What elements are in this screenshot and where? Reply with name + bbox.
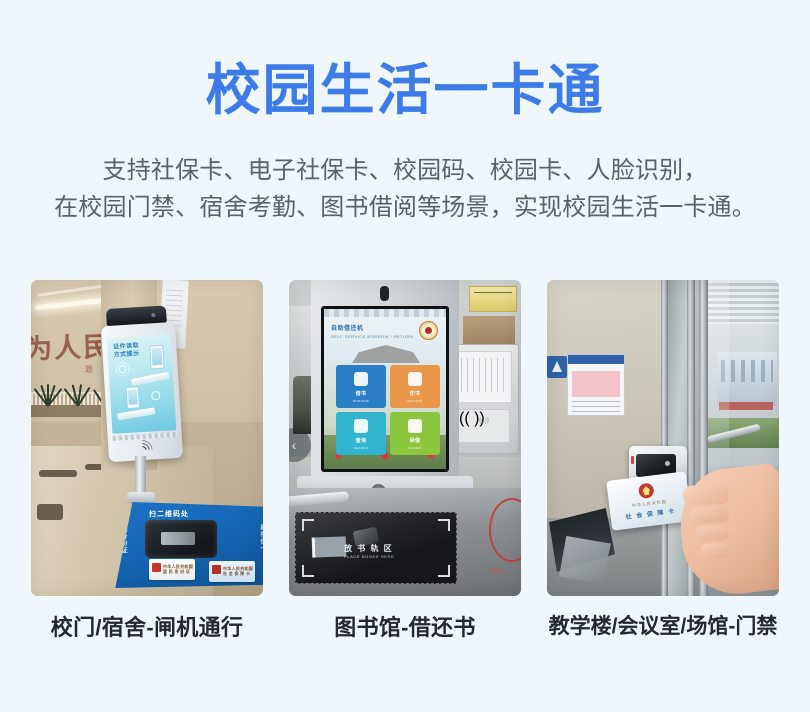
reader-led-icon: [631, 456, 634, 464]
desk-panel: [559, 536, 611, 584]
return-box-icon: [408, 372, 422, 386]
card-caption-gate: 校门/宿舍-闸机通行: [31, 610, 263, 642]
library-logo-badge: [419, 321, 438, 340]
kiosk-tile-borrow[interactable]: 借书 BORROW: [336, 365, 386, 408]
finger-index: [688, 506, 729, 525]
kiosk-bezel: 自助借还机 SELF-SERVICE BORROW / RETURN: [321, 306, 449, 472]
self-service-kiosk[interactable]: 自助借还机 SELF-SERVICE BORROW / RETURN: [311, 280, 459, 486]
card-caption-access-control: 教学楼/会议室/场馆-门禁: [547, 610, 779, 640]
subtitle-line-2: 在校园门禁、宿舍考勤、图书借阅等场景，实现校园生活一卡通。: [0, 189, 810, 226]
finger-middle: [695, 525, 730, 541]
id-card-graphic: 中华人民共和国 居 民 身 份 证: [149, 559, 195, 580]
terminal-screen-text: 证件读取 方式提示: [113, 342, 140, 360]
card-illustration-2: [117, 407, 156, 420]
terminal-screen[interactable]: 证件读取 方式提示: [107, 334, 177, 434]
card-caption-library: 图书馆-借还书: [289, 610, 521, 642]
nfc-wave-2: [115, 362, 130, 377]
scenario-card-row: 为人民服务 题: [31, 280, 779, 642]
national-emblem-icon: [638, 482, 655, 499]
wall-reader-panel[interactable]: (( )): [449, 344, 519, 454]
search-icon: [354, 419, 368, 433]
social-security-card-graphic: 中华人民共和国 社 会 保 障 卡: [209, 561, 255, 582]
kiosk-screen[interactable]: 自助借还机 SELF-SERVICE BORROW / RETURN: [324, 309, 446, 469]
wall-poster: [567, 354, 625, 416]
phone-illustration-2: [126, 386, 140, 409]
phone-illustration-1: [149, 345, 164, 370]
nfc-wave-3: [151, 391, 161, 401]
plant-2: [65, 376, 91, 406]
camera-module: [106, 305, 167, 326]
kiosk-tile-grid: 借书 BORROW 还书 RETURN: [336, 365, 440, 455]
kiosk-tile-search[interactable]: 查询 SEARCH: [336, 412, 386, 455]
wall-notice-sign: [469, 286, 517, 312]
book-tray-area: 放 书 轨 区 PLACE BOOKS HERE: [289, 488, 521, 596]
kiosk-camera-icon: [380, 286, 389, 301]
wall-calligraphy-signature: 题: [85, 364, 94, 375]
scenario-card-gate[interactable]: 为人民服务 题: [31, 280, 263, 642]
card-illustration-1: [131, 372, 170, 386]
promo-page: 校园生活一卡通 支持社保卡、电子社保卡、校园码、校园卡、人脸识别， 在校园门禁、…: [0, 0, 810, 712]
screen-status-bar: [324, 309, 446, 317]
photo-gate-turnstile: 为人民服务 题: [31, 280, 263, 596]
social-security-card[interactable]: 中华人民共和国 社 会 保 障 卡: [606, 471, 691, 530]
book-icon: [354, 372, 368, 386]
book-stack: [312, 536, 347, 557]
terminal-pole-base: [127, 492, 155, 504]
kiosk-tile-return[interactable]: 还书 RETURN: [390, 365, 440, 408]
directional-sign: [547, 356, 567, 378]
scenario-card-library[interactable]: ‹ (( )) 自助借还机 SELF-SERVICE BORROW / RETU…: [289, 280, 521, 642]
nfc-icon: [136, 437, 163, 455]
scenario-card-access-control[interactable]: 中华人民共和国 社 会 保 障 卡 教学楼/会议室/场馆-门禁: [547, 280, 779, 642]
rfid-scan-pad[interactable]: 放 书 轨 区 PLACE BOOKS HERE: [295, 512, 457, 584]
photo-library-kiosk: ‹ (( )) 自助借还机 SELF-SERVICE BORROW / RETU…: [289, 280, 521, 596]
status-led: [492, 569, 495, 572]
qr-scanner-window[interactable]: [145, 520, 217, 558]
renew-icon: [408, 419, 422, 433]
page-title: 校园生活一卡通: [0, 58, 810, 122]
finger-ring: [701, 544, 729, 558]
turnstile-title-label: 扫二维码处: [149, 509, 189, 519]
kiosk-header-label: 自助借还机 SELF-SERVICE BORROW / RETURN: [331, 323, 413, 339]
tray-roller: [289, 491, 349, 507]
panel-card-reader[interactable]: (( )): [458, 409, 510, 443]
plant-1: [35, 376, 61, 406]
annotation-circle: [489, 498, 521, 562]
kiosk-tile-renew[interactable]: 续借 RENEW: [390, 412, 440, 455]
thumb: [682, 485, 728, 505]
page-subtitle: 支持社保卡、电子社保卡、校园码、校园卡、人脸识别， 在校园门禁、宿舍考勤、图书借…: [0, 152, 810, 226]
campus-gate-illustration: [352, 345, 420, 363]
door-frame-left: [661, 280, 668, 596]
photo-door-access: 中华人民共和国 社 会 保 障 卡: [547, 280, 779, 596]
tray-instruction-label: 放 书 轨 区 PLACE BOOKS HERE: [344, 543, 394, 559]
panel-instruction-sheet: [456, 351, 512, 403]
turnstile-right-label: 刷社保卡: [258, 524, 263, 552]
subtitle-line-1: 支持社保卡、电子社保卡、校园码、校园卡、人脸识别，: [0, 152, 810, 189]
face-recognition-terminal[interactable]: 证件读取 方式提示: [101, 322, 183, 462]
